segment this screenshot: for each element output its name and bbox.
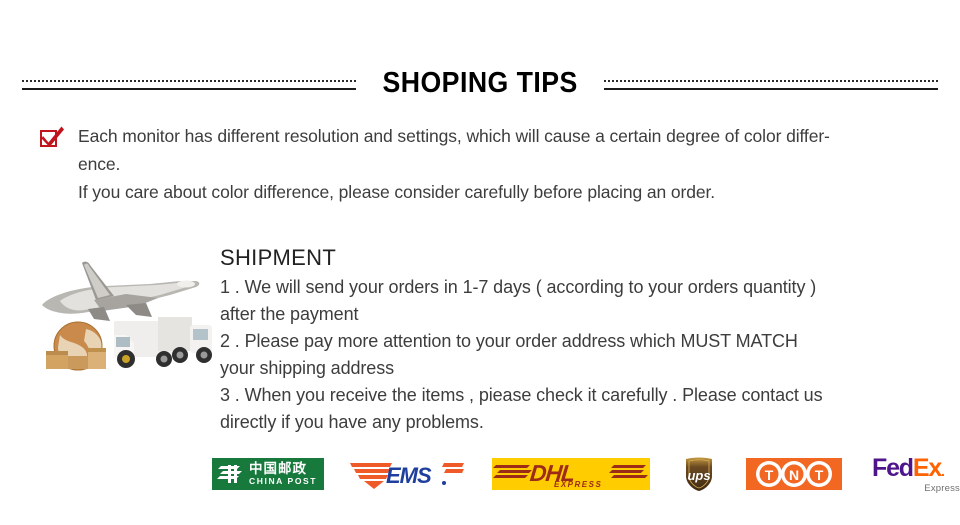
tnt-rings-icon: T N T <box>746 458 842 490</box>
china-post-cn-label: 中国邮政 <box>249 463 317 477</box>
shipment-line-4: your shipping address <box>220 355 930 382</box>
dhl-sub-label: EXPRESS <box>554 480 602 489</box>
notice-line-3: If you care about color difference, plea… <box>78 178 928 206</box>
notice-line-1: Each monitor has different resolution an… <box>78 122 928 150</box>
china-post-en-label: CHINA POST <box>249 477 317 486</box>
logistics-illustration <box>30 243 215 383</box>
fedex-registered-dot: . <box>941 463 944 479</box>
notice-text-block: Each monitor has different resolution an… <box>64 122 928 206</box>
ems-graphic-icon: EMS <box>348 457 466 491</box>
ups-shield-icon: ups <box>684 456 714 492</box>
fedex-ex-label: Ex <box>913 454 941 482</box>
carrier-logo-strip: 中国邮政 CHINA POST EMS <box>212 452 952 496</box>
china-post-logo: 中国邮政 CHINA POST <box>212 458 324 490</box>
shipment-line-5: 3 . When you receive the items , piease … <box>220 382 930 409</box>
check-glyph <box>39 125 65 149</box>
svg-text:T: T <box>765 467 774 483</box>
china-post-text: 中国邮政 CHINA POST <box>246 463 317 486</box>
checkmark-icon <box>38 126 64 150</box>
notice-line-2: ence. <box>78 150 928 178</box>
fedex-wordmark: FedEx. <box>872 456 960 484</box>
fedex-logo: FedEx. Express <box>872 456 960 492</box>
tnt-logo: T N T <box>746 458 842 490</box>
shipment-line-3: 2 . Please pay more attention to your or… <box>220 328 930 355</box>
ups-logo: ups <box>684 456 714 492</box>
fedex-sub-label: Express <box>872 483 960 494</box>
china-post-emblem-icon <box>216 462 246 486</box>
header-rule-right <box>604 77 938 93</box>
svg-text:ups: ups <box>687 468 710 483</box>
shipment-line-6: directly if you have any problems. <box>220 409 930 436</box>
ems-logo: EMS <box>348 457 466 491</box>
airplane-icon <box>42 262 199 321</box>
shipment-line-1: 1 . We will send your orders in 1-7 days… <box>220 274 930 301</box>
dhl-logo: DHL EXPRESS <box>492 458 650 490</box>
page-title: SHOPING TIPS <box>382 67 577 100</box>
svg-text:EMS: EMS <box>386 463 432 488</box>
fedex-fed-label: Fed <box>872 454 913 482</box>
shipment-line-2: after the payment <box>220 301 930 328</box>
color-difference-notice: Each monitor has different resolution an… <box>38 122 928 206</box>
plane-globe-truck-graphic <box>30 243 215 383</box>
svg-text:T: T <box>815 467 824 483</box>
svg-text:N: N <box>789 467 799 483</box>
shipment-text-block: SHIPMENT 1 . We will send your orders in… <box>215 243 930 436</box>
shipment-section: SHIPMENT 1 . We will send your orders in… <box>30 243 930 436</box>
header-rule-left <box>22 77 356 93</box>
shipment-heading: SHIPMENT <box>220 243 930 273</box>
page-header: SHOPING TIPS <box>0 62 960 104</box>
